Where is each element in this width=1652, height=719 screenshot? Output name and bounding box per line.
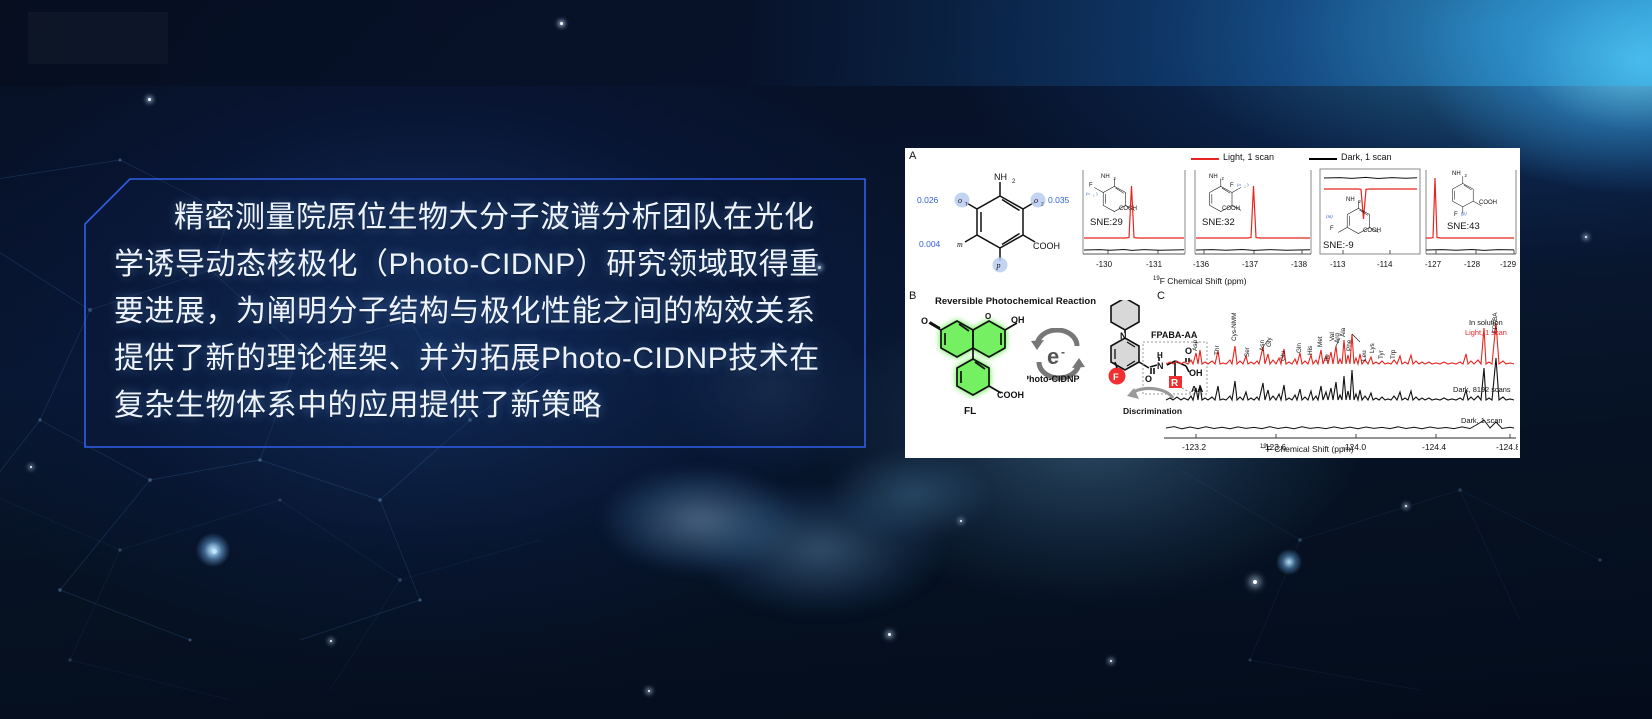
top-banner xyxy=(0,0,1652,86)
panel-c-spectra: -123.2 -123.6 -124.0 -124.4 -124.8 xyxy=(1160,298,1518,458)
svg-text:0.026: 0.026 xyxy=(917,195,939,205)
panel-c-peak-label: Ile xyxy=(1324,354,1331,361)
panel-c-legend-light: Light, 1 scan xyxy=(1465,328,1507,337)
headline-line-3: 要进展，为阐明分子结构与极化性能之间的构效关系 xyxy=(114,288,836,335)
svg-text:2: 2 xyxy=(1244,185,1246,189)
svg-text:0.035: 0.035 xyxy=(1048,195,1070,205)
svg-text:o: o xyxy=(958,196,962,205)
svg-text:0.058: 0.058 xyxy=(981,274,1003,276)
svg-text:NH: NH xyxy=(1209,174,1218,180)
svg-text:SNE:29: SNE:29 xyxy=(1090,217,1123,228)
figure-card: A Light, 1 scan Dark, 1 scan xyxy=(905,148,1520,458)
svg-text:O: O xyxy=(1145,374,1152,384)
svg-text:FL: FL xyxy=(964,406,976,417)
svg-text:-114: -114 xyxy=(1377,260,1393,269)
panel-a-label: A xyxy=(909,150,916,162)
headline-line-4: 提供了新的理论框架、并为拓展Photo-CIDNP技术在 xyxy=(114,335,836,382)
legend-dark-swatch xyxy=(1309,158,1337,160)
svg-text:-136: -136 xyxy=(1193,260,1210,269)
svg-text:-: - xyxy=(1061,345,1065,359)
svg-text:COOH: COOH xyxy=(1119,206,1137,212)
panel-c-peak-label: Trp xyxy=(1390,350,1397,359)
svg-text:p: p xyxy=(996,261,1001,270)
svg-text:-131: -131 xyxy=(1146,260,1163,269)
legend-dark-label: Dark, 1 scan xyxy=(1341,152,1392,162)
svg-text:-113: -113 xyxy=(1330,260,1346,269)
svg-text:F: F xyxy=(1330,226,1334,232)
panel-c-legend-dark8192: Dark, 8192 scans xyxy=(1453,385,1511,394)
panel-c-peak-label: Ala xyxy=(1340,328,1347,337)
svg-text:COOH: COOH xyxy=(1363,228,1381,234)
panel-a-molecule: NH 2 COOH o 1 o 2 m p 0.026 0.035 0.004 … xyxy=(915,166,1085,276)
svg-text:NH: NH xyxy=(1101,174,1110,180)
svg-text:COOH: COOH xyxy=(997,390,1024,400)
legend-light-swatch xyxy=(1191,158,1219,160)
panel-b-fl-molecule: O O OH COOH FL xyxy=(919,308,1029,418)
panel-c-axis-title: 19F Chemical Shift (ppm) xyxy=(1260,444,1354,454)
svg-text:2: 2 xyxy=(1114,176,1117,181)
svg-text:-130: -130 xyxy=(1096,260,1113,269)
svg-text:0.004: 0.004 xyxy=(919,239,941,249)
svg-text:F: F xyxy=(1454,212,1458,218)
svg-text:O: O xyxy=(985,312,991,321)
panel-c-peak-label: Glu xyxy=(1280,351,1287,361)
svg-text:COOH: COOH xyxy=(1479,200,1497,206)
headline-text: 精密测量院原位生物大分子波谱分析团队在光化 学诱导动态核极化（Photo-CID… xyxy=(114,194,836,429)
panel-c-peak-label: Thr xyxy=(1214,345,1221,355)
svg-text:NH: NH xyxy=(1452,171,1461,177)
slide-background: 精密测量院原位生物大分子波谱分析团队在光化 学诱导动态核极化（Photo-CID… xyxy=(0,0,1652,719)
headline-line-1: 精密测量院原位生物大分子波谱分析团队在光化 xyxy=(114,194,836,241)
panel-b-label: B xyxy=(909,290,916,302)
svg-text:-124.4: -124.4 xyxy=(1422,442,1446,452)
panel-c-legend-insolution: In solution xyxy=(1469,318,1503,327)
legend-light-label: Light, 1 scan xyxy=(1223,152,1274,162)
svg-text:(o: (o xyxy=(1237,182,1242,187)
svg-text:e: e xyxy=(1047,344,1059,369)
svg-text:O: O xyxy=(921,316,928,326)
svg-text:COOH: COOH xyxy=(1033,241,1060,251)
svg-text:2: 2 xyxy=(1041,202,1044,208)
svg-text:NH: NH xyxy=(994,172,1007,182)
svg-text:m: m xyxy=(957,240,963,249)
panel-a-spectrum-o2: NH 2 F (o 2 ) COOH SNE:32 -136 -137 -138 xyxy=(1192,166,1314,274)
panel-b-title: Reversible Photochemical Reaction xyxy=(935,296,1096,307)
svg-text:(m): (m) xyxy=(1326,215,1333,220)
svg-text:-124.8: -124.8 xyxy=(1496,442,1518,452)
svg-text:NH: NH xyxy=(1346,197,1355,203)
panel-c-peak-label: Leu xyxy=(1361,350,1368,361)
svg-text:F: F xyxy=(1089,183,1093,189)
panel-c-peak-label: Asp xyxy=(1192,340,1199,351)
panel-c-peak-label: Phe xyxy=(1346,340,1353,351)
svg-text:): ) xyxy=(1096,191,1098,196)
headline-card: 精密测量院原位生物大分子波谱分析团队在光化 学诱导动态核极化（Photo-CID… xyxy=(84,178,866,448)
svg-text:SNE:43: SNE:43 xyxy=(1447,221,1480,232)
svg-text:1: 1 xyxy=(1093,194,1095,198)
panel-a-spectrum-o1: NH 2 F (o 1 ) COOH SNE:29 -130 -131 xyxy=(1080,166,1188,274)
svg-text:2: 2 xyxy=(1465,173,1468,178)
panel-c-peak-label: Cys-NMM xyxy=(1231,313,1238,341)
star xyxy=(148,98,151,101)
banner-placeholder-plate xyxy=(28,12,168,64)
svg-text:F: F xyxy=(1230,183,1234,189)
svg-text:SNE:32: SNE:32 xyxy=(1202,217,1235,228)
svg-text:1: 1 xyxy=(965,202,968,208)
svg-text:(p): (p) xyxy=(1461,212,1467,217)
panel-a-spectrum-p: NH 2 COOH F (p) SNE:43 -127 -128 -129 xyxy=(1424,166,1518,274)
svg-text:o: o xyxy=(1034,196,1038,205)
svg-text:OH: OH xyxy=(1011,315,1025,325)
svg-text:-138: -138 xyxy=(1291,260,1308,269)
svg-text:-127: -127 xyxy=(1425,260,1442,269)
headline-line-5: 复杂生物体系中的应用提供了新策略 xyxy=(114,382,836,429)
panel-c-peak-label: Asn xyxy=(1259,340,1266,351)
panel-a-axis-title: 19F Chemical Shift (ppm) xyxy=(1153,276,1247,286)
svg-text:-129: -129 xyxy=(1500,260,1517,269)
panel-c-peak-label: His xyxy=(1307,346,1314,355)
svg-text:-123.2: -123.2 xyxy=(1182,442,1206,452)
svg-text:): ) xyxy=(1247,182,1249,187)
panel-c-peak-label: Gly xyxy=(1266,337,1273,347)
svg-text:F: F xyxy=(1113,372,1119,383)
svg-text:Photo-CIDNP: Photo-CIDNP xyxy=(1027,374,1080,384)
panel-b-electron-cycle: e - Photo-CIDNP xyxy=(1027,328,1091,398)
svg-text:-128: -128 xyxy=(1464,260,1481,269)
svg-text:COOH: COOH xyxy=(1222,206,1240,212)
panel-c-peak-label: Met xyxy=(1317,336,1324,347)
svg-text:SNE:-9: SNE:-9 xyxy=(1323,240,1354,251)
svg-text:2: 2 xyxy=(1222,176,1225,181)
panel-c-peak-label: Ser xyxy=(1244,347,1251,357)
panel-c-peak-label: Tyr xyxy=(1378,350,1385,359)
star xyxy=(1585,236,1587,238)
svg-text:2: 2 xyxy=(1012,179,1016,185)
panel-a-spectrum-m: NH 2 (m) F COOH SNE:-9 -113 -114 xyxy=(1318,166,1422,274)
headline-line-2: 学诱导动态核极化（Photo-CIDNP）研究领域取得重 xyxy=(114,241,836,288)
panel-c-legend-dark1: Dark, 1 scan xyxy=(1461,416,1503,425)
panel-c-peak-label: Gln xyxy=(1296,343,1303,353)
panel-c-peak-label: Lys xyxy=(1369,343,1376,353)
svg-text:-137: -137 xyxy=(1242,260,1259,269)
svg-text:(o: (o xyxy=(1086,191,1091,196)
